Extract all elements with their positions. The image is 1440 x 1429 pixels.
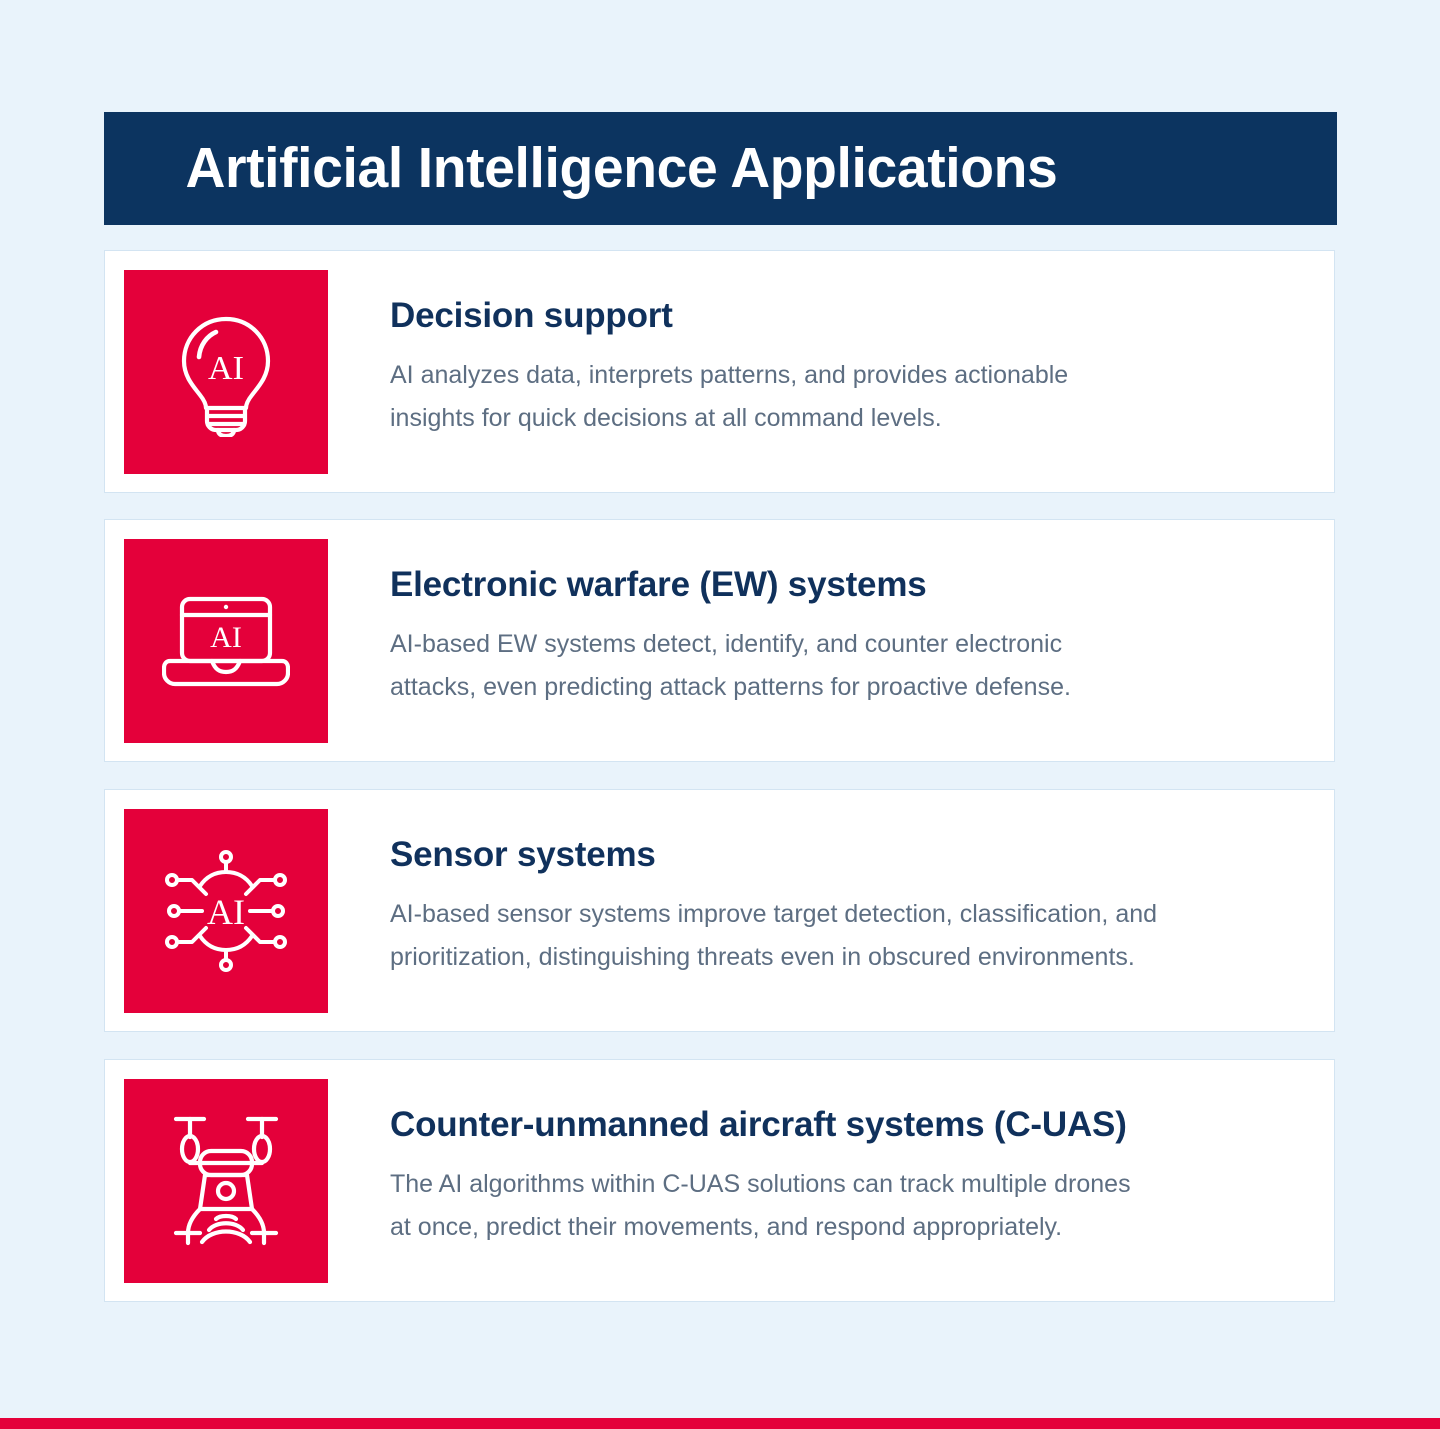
card-description-line: AI-based sensor systems improve target d…: [390, 893, 1157, 936]
card-description-line: prioritization, distinguishing threats e…: [390, 936, 1157, 979]
bottom-accent-bar: [0, 1418, 1440, 1429]
title-banner: Artificial Intelligence Applications: [104, 112, 1337, 225]
circuit-node-ai-icon: AI: [162, 848, 290, 974]
icon-tile-electronic-warfare: AI: [124, 539, 328, 743]
card-heading: Electronic warfare (EW) systems: [390, 566, 1071, 605]
card-heading: Counter-unmanned aircraft systems (C-UAS…: [390, 1106, 1131, 1145]
card-description: The AI algorithms within C-UAS solutions…: [390, 1163, 1131, 1249]
icon-tile-decision-support: AI: [124, 270, 328, 474]
card-body-electronic-warfare: Electronic warfare (EW) systems AI-based…: [390, 566, 1101, 709]
card-description: AI-based sensor systems improve target d…: [390, 893, 1157, 979]
application-card-electronic-warfare: AI Electronic warfare (EW) systems AI-ba…: [104, 519, 1335, 762]
card-description: AI-based EW systems detect, identify, an…: [390, 623, 1071, 709]
infographic-page: Artificial Intelligence Applications AI …: [0, 0, 1440, 1429]
drone-signal-icon: [164, 1111, 288, 1251]
application-card-decision-support: AI Decision support AI analyzes data, in…: [104, 250, 1335, 493]
card-heading: Sensor systems: [390, 836, 1157, 875]
svg-text:AI: AI: [207, 892, 245, 932]
icon-tile-sensor-systems: AI: [124, 809, 328, 1013]
svg-text:AI: AI: [208, 350, 244, 387]
svg-text:AI: AI: [210, 621, 242, 654]
page-title: Artificial Intelligence Applications: [104, 140, 1057, 197]
card-body-decision-support: Decision support AI analyzes data, inter…: [390, 297, 1098, 440]
application-card-counter-uas: Counter-unmanned aircraft systems (C-UAS…: [104, 1059, 1335, 1302]
laptop-ai-icon: AI: [162, 585, 290, 697]
card-body-sensor-systems: Sensor systems AI-based sensor systems i…: [390, 836, 1187, 979]
icon-tile-counter-uas: [124, 1079, 328, 1283]
card-description-line: AI analyzes data, interprets patterns, a…: [390, 354, 1068, 397]
card-description: AI analyzes data, interprets patterns, a…: [390, 354, 1068, 440]
card-description-line: attacks, even predicting attack patterns…: [390, 666, 1071, 709]
card-description-line: AI-based EW systems detect, identify, an…: [390, 623, 1071, 666]
application-card-sensor-systems: AI Sensor systems AI-based sensor system…: [104, 789, 1335, 1032]
card-description-line: at once, predict their movements, and re…: [390, 1206, 1131, 1249]
lightbulb-ai-icon: AI: [166, 307, 286, 437]
card-description-line: insights for quick decisions at all comm…: [390, 397, 1068, 440]
card-description-line: The AI algorithms within C-UAS solutions…: [390, 1163, 1131, 1206]
card-heading: Decision support: [390, 297, 1068, 336]
card-body-counter-uas: Counter-unmanned aircraft systems (C-UAS…: [390, 1106, 1161, 1249]
